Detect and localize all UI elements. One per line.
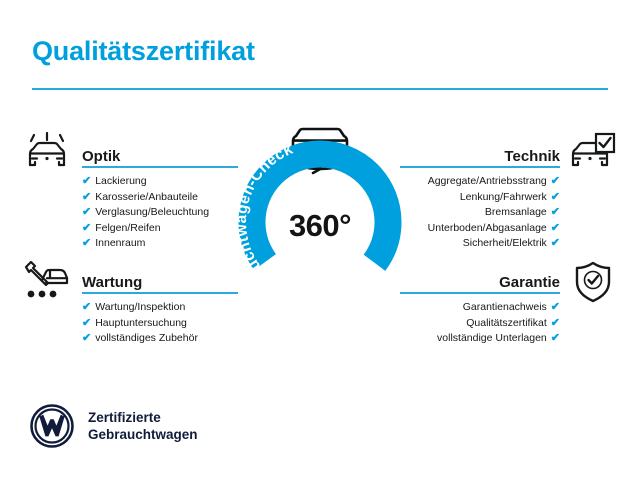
wrench-car-icon bbox=[22, 258, 72, 305]
list-item-label: Felgen/Reifen bbox=[95, 221, 160, 237]
page-title: Qualitätszertifikat bbox=[32, 36, 255, 67]
section-title-wartung: Wartung bbox=[82, 274, 142, 291]
section-header: Technik bbox=[400, 142, 560, 168]
list-item: vollständige Unterlagen ✔ bbox=[437, 331, 560, 347]
list-item: Bremsanlage ✔ bbox=[428, 205, 560, 221]
list-item: ✔ Innenraum bbox=[82, 236, 209, 252]
section-title-optik: Optik bbox=[82, 148, 120, 165]
check-icon: ✔ bbox=[82, 207, 91, 218]
volkswagen-logo bbox=[30, 404, 74, 448]
check-icon: ✔ bbox=[551, 176, 560, 187]
list-item-label: Bremsanlage bbox=[485, 205, 547, 221]
check-icon: ✔ bbox=[551, 192, 560, 203]
list-item-label: Aggregate/Antriebsstrang bbox=[428, 174, 547, 190]
badge-center-label: 360° bbox=[235, 208, 405, 244]
footer-logo: Zertifizierte Gebrauchtwagen bbox=[30, 404, 198, 448]
list-item-label: Sicherheit/Elektrik bbox=[463, 236, 547, 252]
list-item-label: Unterboden/Abgasanlage bbox=[428, 221, 547, 237]
check-icon: ✔ bbox=[551, 238, 560, 249]
check-icon: ✔ bbox=[82, 223, 91, 234]
list-item: Aggregate/Antriebsstrang ✔ bbox=[428, 174, 560, 190]
car-checkbox-icon bbox=[568, 132, 616, 179]
list-item: Unterboden/Abgasanlage ✔ bbox=[428, 221, 560, 237]
list-item: Garantienachweis ✔ bbox=[437, 300, 560, 316]
list-item-label: Lackierung bbox=[95, 174, 146, 190]
section-wartung: Wartung ✔ Wartung/Inspektion ✔ Hauptunte… bbox=[82, 268, 238, 294]
check-icon: ✔ bbox=[82, 192, 91, 203]
check-icon: ✔ bbox=[82, 302, 91, 313]
list-item: Lenkung/Fahrwerk ✔ bbox=[428, 190, 560, 206]
check-icon: ✔ bbox=[82, 333, 91, 344]
list-item-label: Karosserie/Anbauteile bbox=[95, 190, 198, 206]
checklist-wartung: ✔ Wartung/Inspektion ✔ Hauptuntersuchung… bbox=[82, 300, 198, 347]
badge-360-gebrauchtwagen-check: Gebrauchtwagen-Check 360° bbox=[235, 120, 405, 305]
title-divider bbox=[32, 88, 608, 90]
list-item: ✔ Wartung/Inspektion bbox=[82, 300, 198, 316]
list-item-label: Innenraum bbox=[95, 236, 145, 252]
section-divider bbox=[400, 166, 560, 168]
car-shine-icon bbox=[24, 132, 70, 177]
section-title-garantie: Garantie bbox=[499, 274, 560, 291]
list-item-label: Hauptuntersuchung bbox=[95, 316, 187, 332]
list-item: Sicherheit/Elektrik ✔ bbox=[428, 236, 560, 252]
checklist-optik: ✔ Lackierung ✔ Karosserie/Anbauteile ✔ V… bbox=[82, 174, 209, 252]
section-header: Wartung bbox=[82, 268, 238, 294]
section-title-technik: Technik bbox=[504, 148, 560, 165]
list-item-label: vollständige Unterlagen bbox=[437, 331, 547, 347]
section-header: Garantie bbox=[400, 268, 560, 294]
list-item-label: Verglasung/Beleuchtung bbox=[95, 205, 209, 221]
shield-check-icon bbox=[572, 260, 614, 309]
list-item-label: Wartung/Inspektion bbox=[95, 300, 185, 316]
check-icon: ✔ bbox=[551, 223, 560, 234]
check-icon: ✔ bbox=[82, 176, 91, 187]
list-item: ✔ Felgen/Reifen bbox=[82, 221, 209, 237]
check-icon: ✔ bbox=[551, 302, 560, 313]
check-icon: ✔ bbox=[82, 238, 91, 249]
check-icon: ✔ bbox=[551, 333, 560, 344]
check-icon: ✔ bbox=[551, 318, 560, 329]
section-garantie: Garantie Garantienachweis ✔ Qualitätszer… bbox=[400, 268, 560, 294]
section-header: Optik bbox=[82, 142, 238, 168]
list-item-label: Qualitätszertifikat bbox=[466, 316, 547, 332]
list-item: ✔ vollständiges Zubehör bbox=[82, 331, 198, 347]
section-optik: Optik ✔ Lackierung ✔ Karosserie/Anbautei… bbox=[82, 142, 238, 168]
list-item-label: vollständiges Zubehör bbox=[95, 331, 198, 347]
section-divider bbox=[82, 166, 238, 168]
list-item: ✔ Karosserie/Anbauteile bbox=[82, 190, 209, 206]
section-divider bbox=[400, 292, 560, 294]
section-divider bbox=[82, 292, 238, 294]
list-item: ✔ Verglasung/Beleuchtung bbox=[82, 205, 209, 221]
checklist-technik: Aggregate/Antriebsstrang ✔ Lenkung/Fahrw… bbox=[428, 174, 560, 252]
section-technik: Technik Aggregate/Antriebsstrang ✔ Lenku… bbox=[400, 142, 560, 168]
footer-logo-text: Zertifizierte Gebrauchtwagen bbox=[88, 409, 198, 443]
list-item: ✔ Hauptuntersuchung bbox=[82, 316, 198, 332]
list-item-label: Garantienachweis bbox=[463, 300, 547, 316]
checklist-garantie: Garantienachweis ✔ Qualitätszertifikat ✔… bbox=[437, 300, 560, 347]
list-item-label: Lenkung/Fahrwerk bbox=[460, 190, 547, 206]
list-item: Qualitätszertifikat ✔ bbox=[437, 316, 560, 332]
check-icon: ✔ bbox=[82, 318, 91, 329]
check-icon: ✔ bbox=[551, 207, 560, 218]
list-item: ✔ Lackierung bbox=[82, 174, 209, 190]
certificate-sheet: Qualitätszertifikat bbox=[0, 0, 640, 480]
